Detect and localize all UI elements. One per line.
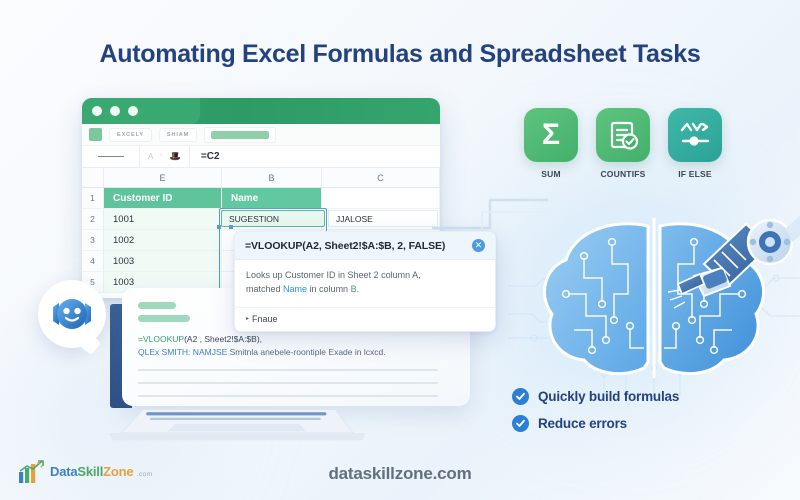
branch-icon bbox=[668, 108, 722, 162]
window-titlebar bbox=[82, 98, 440, 124]
checklist-label: Quickly build formulas bbox=[538, 389, 679, 404]
code-pill-long bbox=[138, 315, 190, 322]
suggestion-cell[interactable]: SUGESTION bbox=[221, 210, 325, 227]
ribbon-toolbar: EXCELY SHIAM bbox=[82, 124, 440, 146]
row-header[interactable]: 3 bbox=[82, 230, 104, 251]
column-headers: E B C bbox=[82, 168, 440, 188]
page-title: Automating Excel Formulas and Spreadshee… bbox=[0, 40, 800, 69]
cell-e2[interactable]: 1001 bbox=[104, 209, 222, 230]
description-line-1: Looks up Customer ID in Sheet 2 column A… bbox=[246, 270, 421, 280]
code-garbled-c: Smitnla anebele-roontiple Exade in lcxcd… bbox=[230, 347, 386, 357]
document-check-icon bbox=[596, 108, 650, 162]
sigma-icon: Σ bbox=[524, 108, 578, 162]
app-swatch-icon bbox=[89, 128, 102, 141]
sigma-glyph: Σ bbox=[542, 120, 560, 150]
checklist-label: Reduce errors bbox=[538, 416, 627, 431]
function-card-label: SUM bbox=[524, 169, 578, 179]
row-header[interactable]: 2 bbox=[82, 209, 104, 230]
function-card-sum[interactable]: Σ SUM bbox=[524, 108, 578, 179]
formula-bar: A * 🎩 =C2 bbox=[82, 146, 440, 168]
formula-popup-footer[interactable]: ▸ Fnaue bbox=[235, 307, 495, 331]
brand-data: Data bbox=[50, 464, 77, 479]
name-box[interactable] bbox=[82, 146, 140, 167]
brand-skill: Skill bbox=[77, 464, 103, 479]
check-icon bbox=[512, 388, 529, 405]
description-line-2a: matched bbox=[246, 284, 283, 294]
cell-b1[interactable]: Name bbox=[222, 188, 322, 209]
laptop-base bbox=[86, 406, 536, 442]
list-item[interactable]: Quickly build formulas bbox=[512, 388, 679, 405]
function-card-label: COUNTIFS bbox=[596, 169, 650, 179]
ai-brain-graphic bbox=[508, 198, 800, 398]
column-header-e[interactable]: E bbox=[104, 168, 222, 187]
brand-text: DataSkillZone .com bbox=[50, 464, 153, 480]
code-garbled-a: QLEx SMITH: bbox=[138, 347, 190, 357]
description-period: . bbox=[357, 284, 360, 294]
code-garbled-b: NAMJSE bbox=[190, 347, 229, 357]
bar-chart-growth-icon bbox=[18, 460, 44, 484]
adjacent-cell[interactable]: JJALOSE bbox=[328, 210, 438, 227]
table-row: 1 Customer ID Name bbox=[82, 188, 440, 209]
cell-e3[interactable]: 1002 bbox=[104, 230, 222, 251]
check-icon bbox=[512, 415, 529, 432]
maximize-icon[interactable] bbox=[128, 106, 138, 116]
function-card-if-else[interactable]: IF ELSE bbox=[668, 108, 722, 179]
brand-suffix: .com bbox=[137, 471, 153, 478]
fx-icon[interactable]: 🎩 bbox=[170, 151, 181, 162]
cell-e1[interactable]: Customer ID bbox=[104, 188, 222, 209]
function-card-countifs[interactable]: COUNTIFS bbox=[596, 108, 650, 179]
close-icon[interactable]: ✕ bbox=[472, 239, 485, 252]
formula-suggestion-popup: =VLOOKUP(A2, Sheet2!$A:$B, 2, FALSE) ✕ L… bbox=[234, 231, 496, 332]
ribbon-tab-shiam[interactable]: SHIAM bbox=[159, 128, 197, 142]
window-controls bbox=[92, 106, 138, 116]
row-header[interactable]: 4 bbox=[82, 251, 104, 272]
caret-icon: ▸ bbox=[246, 315, 249, 322]
selection-handle[interactable] bbox=[217, 225, 221, 229]
row-header[interactable]: 1 bbox=[82, 188, 104, 209]
cell-c1[interactable] bbox=[322, 188, 440, 209]
select-all-corner[interactable] bbox=[82, 168, 104, 187]
formula-text[interactable]: =VLOOKUP(A2, Sheet2!$A:$B, 2, FALSE) bbox=[245, 240, 445, 252]
code-formula-rest: (A2 , Sheet2!$A:$B), bbox=[184, 334, 262, 344]
brand-zone: Zone bbox=[103, 464, 133, 479]
ribbon-bar[interactable] bbox=[204, 127, 276, 143]
formula-tools: A * 🎩 bbox=[140, 146, 190, 167]
function-cards: Σ SUM COUNTIFS bbox=[524, 108, 722, 179]
minimize-icon[interactable] bbox=[110, 106, 120, 116]
footer-label: Fnaue bbox=[252, 314, 278, 324]
close-icon[interactable] bbox=[92, 106, 102, 116]
cell-e4[interactable]: 1003 bbox=[104, 251, 222, 272]
description-line-2b: in column bbox=[307, 284, 351, 294]
formula-input[interactable]: =C2 bbox=[190, 151, 220, 162]
brand-logo[interactable]: DataSkillZone .com bbox=[18, 460, 153, 484]
asterisk-icon[interactable]: * bbox=[160, 154, 162, 160]
formula-popup-header: =VLOOKUP(A2, Sheet2!$A:$B, 2, FALSE) ✕ bbox=[235, 232, 495, 260]
chat-bot-bubble[interactable] bbox=[38, 280, 106, 348]
code-keyword: =VLOOKUP bbox=[138, 334, 184, 344]
benefits-checklist: Quickly build formulas Reduce errors bbox=[512, 388, 679, 442]
font-a-icon[interactable]: A bbox=[148, 152, 153, 161]
ribbon-tab-excely[interactable]: EXCELY bbox=[109, 128, 152, 142]
code-line-garbled: QLEx SMITH: NAMJSE Smitnla anebele-roont… bbox=[138, 347, 454, 357]
column-header-b[interactable]: B bbox=[222, 168, 322, 187]
column-header-c[interactable]: C bbox=[322, 168, 440, 187]
code-pill-short bbox=[138, 302, 176, 309]
chat-bot-icon bbox=[49, 291, 95, 337]
formula-description: Looks up Customer ID in Sheet 2 column A… bbox=[235, 260, 495, 307]
description-name-ref: Name bbox=[283, 284, 307, 294]
code-line-formula: =VLOOKUP(A2 , Sheet2!$A:$B), bbox=[138, 334, 454, 344]
function-card-label: IF ELSE bbox=[668, 169, 722, 179]
list-item[interactable]: Reduce errors bbox=[512, 415, 679, 432]
selection-handle[interactable] bbox=[229, 225, 233, 229]
